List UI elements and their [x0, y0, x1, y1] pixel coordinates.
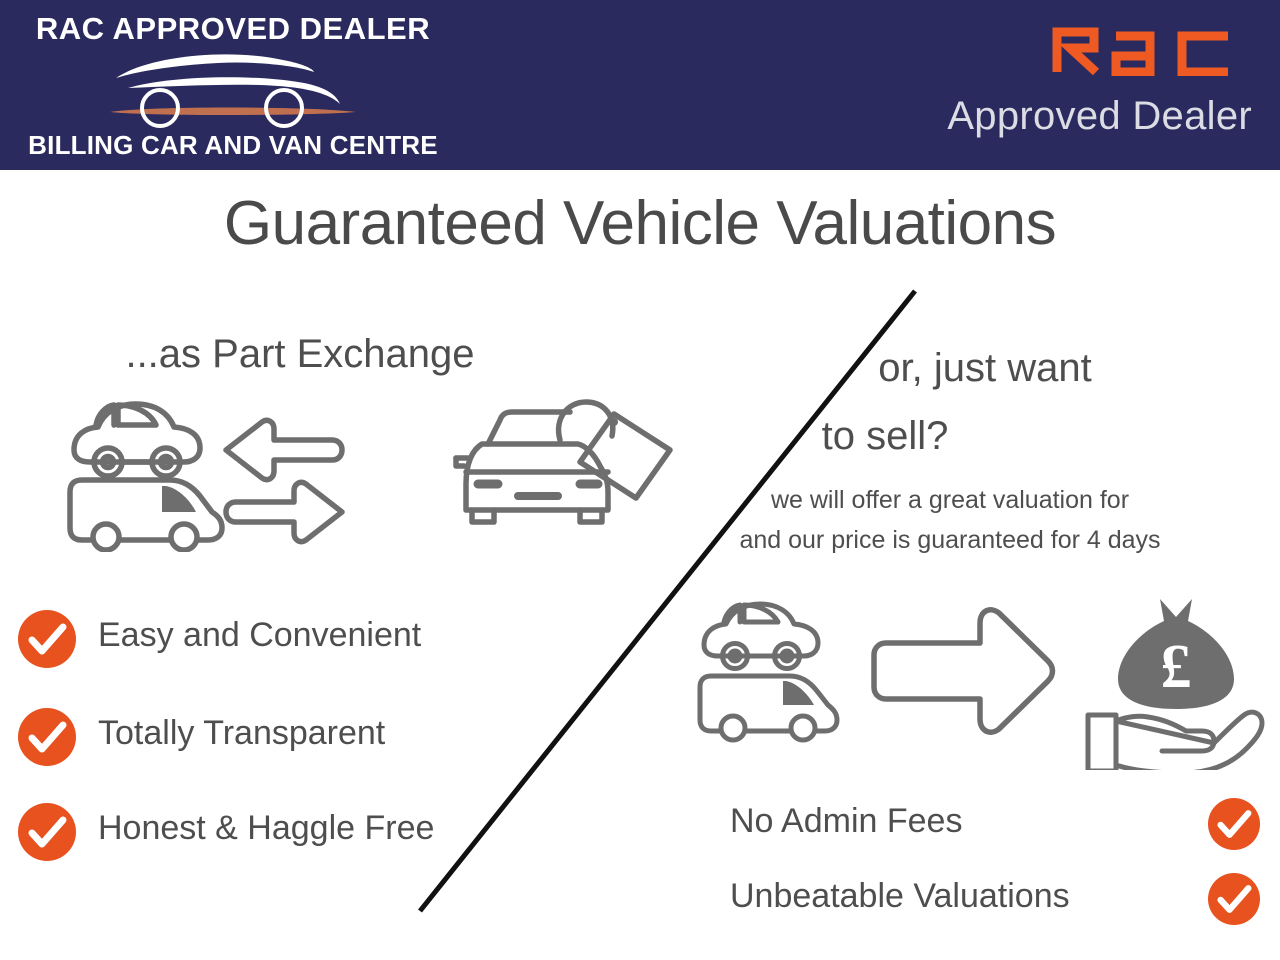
- sell-outright-icon-row: £: [690, 595, 1280, 770]
- part-exchange-icon-row: [58, 392, 678, 552]
- list-item-label: Easy and Convenient: [98, 616, 421, 655]
- list-item: Unbeatable Valuations: [730, 873, 1260, 929]
- part-exchange-panel: ...as Part Exchange: [0, 300, 640, 960]
- dealer-logo: RAC APPROVED DEALER BILLING CAR AND VAN …: [18, 8, 448, 163]
- list-item: Honest & Haggle Free: [18, 803, 578, 863]
- sell-outright-subtext-line1: we will offer a great valuation for: [640, 480, 1260, 520]
- list-item-label: No Admin Fees: [730, 802, 1160, 841]
- rac-approved-dealer-badge: Approved Dealer: [872, 14, 1252, 154]
- list-item-label: Unbeatable Valuations: [730, 877, 1160, 916]
- pound-symbol: £: [1161, 633, 1192, 701]
- car-side-icon: [704, 604, 818, 669]
- list-item: Easy and Convenient: [18, 610, 578, 670]
- car-side-icon: [74, 404, 200, 476]
- list-item-label: Honest & Haggle Free: [98, 809, 434, 848]
- open-hand-icon: [1088, 712, 1262, 770]
- check-circle-icon: [18, 610, 76, 668]
- dealer-logo-top-text: RAC APPROVED DEALER: [18, 13, 448, 44]
- sell-outright-heading-line2: to sell?: [640, 402, 1260, 470]
- header-bar: RAC APPROVED DEALER BILLING CAR AND VAN …: [0, 0, 1280, 170]
- check-circle-icon: [1208, 873, 1260, 925]
- van-side-icon: [70, 480, 222, 550]
- check-circle-icon: [18, 803, 76, 861]
- car-silhouette-icon: [108, 50, 368, 128]
- sell-outright-subtext-line2: and our price is guaranteed for 4 days: [640, 520, 1260, 560]
- promo-graphic: RAC APPROVED DEALER BILLING CAR AND VAN …: [0, 0, 1280, 960]
- check-circle-icon: [1208, 798, 1260, 850]
- right-arrow-icon: [874, 610, 1053, 732]
- sell-outright-heading-line1: or, just want: [640, 334, 1260, 402]
- list-item: Totally Transparent: [18, 708, 578, 768]
- sell-outright-heading: or, just want to sell?: [640, 334, 1260, 454]
- sell-outright-panel: or, just want to sell? we will offer a g…: [640, 300, 1280, 960]
- rac-wordmark-icon: [1050, 14, 1240, 76]
- rac-subtitle: Approved Dealer: [872, 96, 1252, 136]
- page-title: Guaranteed Vehicle Valuations: [0, 188, 1280, 259]
- part-exchange-heading: ...as Part Exchange: [0, 332, 600, 377]
- exchange-arrows-icon: [226, 420, 342, 541]
- dealer-logo-bottom-text: BILLING CAR AND VAN CENTRE: [18, 132, 448, 158]
- car-front-with-price-tag-icon: [456, 402, 670, 522]
- van-side-icon: [700, 676, 837, 740]
- sell-outright-subtext: we will offer a great valuation for and …: [640, 480, 1260, 560]
- list-item: No Admin Fees: [730, 798, 1260, 854]
- money-bag-pound-icon: £: [1118, 599, 1234, 709]
- list-item-label: Totally Transparent: [98, 714, 385, 753]
- check-circle-icon: [18, 708, 76, 766]
